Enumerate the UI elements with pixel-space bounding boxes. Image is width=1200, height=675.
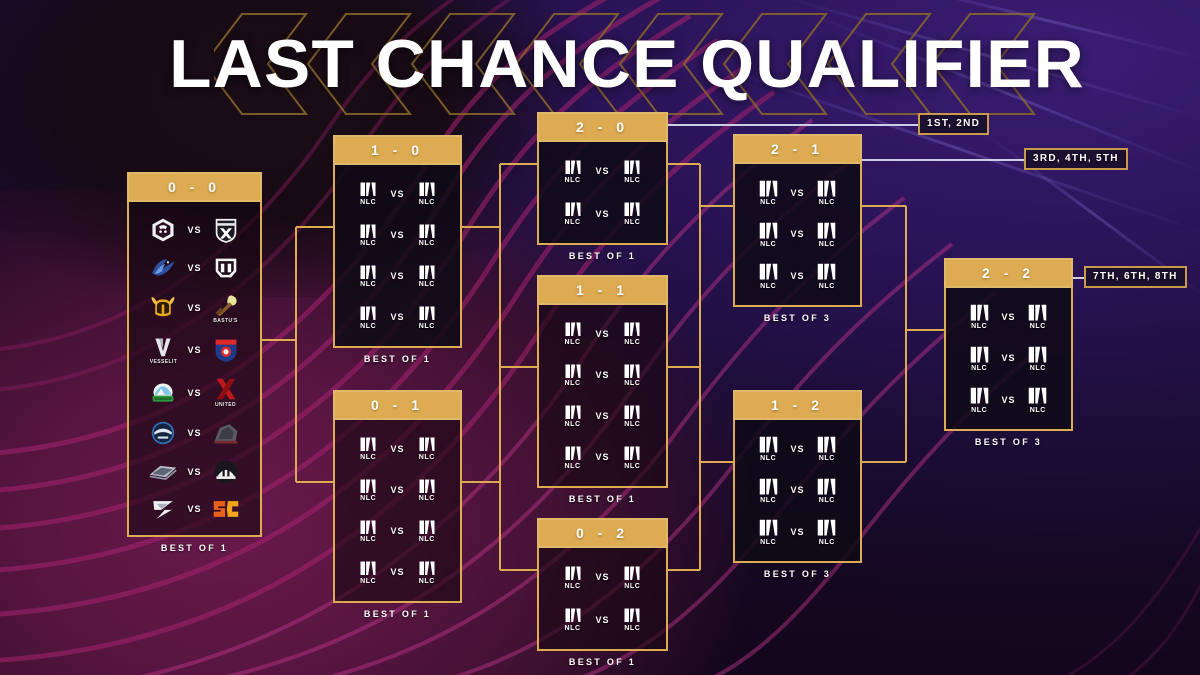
vs-label: VS [1001, 353, 1015, 363]
nlc-logo: NLC [564, 321, 582, 346]
match-slot-left [141, 217, 186, 243]
nlc-mark-icon [816, 518, 837, 537]
match-slot-right: NLC [406, 305, 448, 330]
match-slot-right: NLC [611, 363, 654, 388]
node-record-round-1-0: 1 - 0 [333, 135, 462, 165]
nlc-logo: NLC [1027, 386, 1048, 413]
nlc-logo: NLC [623, 363, 641, 388]
nlc-mark-icon [564, 363, 582, 380]
match-row[interactable]: VS [135, 216, 254, 244]
match-row[interactable]: NLCVSNLC [952, 303, 1065, 330]
nlc-label: NLC [360, 323, 376, 330]
nlc-logo: NLC [359, 436, 377, 461]
nlc-mark-icon [623, 404, 641, 421]
vs-label: VS [1001, 395, 1015, 405]
match-slot-right: NLC [406, 223, 448, 248]
match-row[interactable]: VESSELITVS [135, 336, 254, 365]
nlc-mark-icon [359, 560, 377, 577]
nlc-label: NLC [624, 421, 640, 428]
match-slot-right: NLC [1017, 303, 1059, 330]
nlc-label: NLC [819, 539, 835, 546]
placement-tag-first-second: 1ST, 2ND [918, 113, 989, 135]
node-record-round-2-1: 2 - 1 [733, 134, 862, 164]
nlc-label: NLC [1030, 365, 1046, 372]
match-slot-left: NLC [347, 223, 389, 248]
nlc-label: NLC [565, 177, 581, 184]
match-slot-right: NLC [611, 159, 654, 184]
vs-label: VS [187, 504, 201, 514]
nlc-logo: NLC [623, 445, 641, 470]
nlc-logo: NLC [1027, 345, 1048, 372]
nlc-label: NLC [624, 177, 640, 184]
nlc-mark-icon [418, 223, 436, 240]
nlc-label: NLC [819, 455, 835, 462]
match-slot-right: NLC [806, 262, 848, 289]
match-slot-right: UNITED [203, 377, 248, 408]
nlc-logo: NLC [758, 477, 779, 504]
nlc-logo: NLC [816, 435, 837, 462]
nlc-label: NLC [624, 219, 640, 226]
match-row[interactable]: VS [135, 497, 254, 521]
nlc-mark-icon [816, 262, 837, 281]
match-row[interactable]: NLCVSNLC [341, 519, 454, 544]
nlc-logo: NLC [564, 445, 582, 470]
match-row[interactable]: NLCVSNLC [741, 221, 854, 248]
match-slot-left: NLC [347, 478, 389, 503]
nlc-mark-icon [969, 303, 990, 322]
sic-logo [212, 498, 240, 520]
match-slot-right [203, 337, 248, 363]
nlc-label: NLC [624, 463, 640, 470]
nlc-logo: NLC [816, 179, 837, 206]
vs-label: VS [390, 271, 404, 281]
nlc-label: NLC [760, 283, 776, 290]
nlc-label: NLC [1030, 407, 1046, 414]
nlc-label: NLC [971, 323, 987, 330]
match-slot-right [203, 256, 248, 280]
xshield-logo [214, 216, 238, 244]
nlc-label: NLC [419, 578, 435, 585]
nlc-mark-icon [623, 321, 641, 338]
match-row[interactable]: NLCVSNLC [952, 386, 1065, 413]
nlc-mark-icon [816, 179, 837, 198]
match-row[interactable]: NLCVSNLC [341, 478, 454, 503]
match-row[interactable]: NLCVSNLC [545, 607, 660, 632]
match-slot-right: NLC [406, 478, 448, 503]
nlc-mark-icon [623, 607, 641, 624]
nlc-logo: NLC [418, 560, 436, 585]
nlc-logo: NLC [969, 386, 990, 413]
match-row[interactable]: NLCVSNLC [545, 404, 660, 429]
nlc-mark-icon [359, 436, 377, 453]
g2-logo [150, 217, 176, 243]
nlc-mark-icon [758, 179, 779, 198]
nlc-label: NLC [565, 583, 581, 590]
bracket-node-round-1-2: 1 - 2NLCVSNLCNLCVSNLCNLCVSNLCBEST OF 3 [733, 390, 862, 579]
nlc-logo: NLC [564, 404, 582, 429]
nlc-mark-icon [564, 404, 582, 421]
nlc-label: NLC [565, 339, 581, 346]
nlc-mark-icon [758, 518, 779, 537]
nlc-mark-icon [623, 445, 641, 462]
nlc-label: NLC [760, 241, 776, 248]
vs-label: VS [595, 209, 609, 219]
nlc-mark-icon [1027, 345, 1048, 364]
nlc-label: NLC [419, 536, 435, 543]
nlc-label: NLC [624, 339, 640, 346]
bracket-node-round-0-1: 0 - 1NLCVSNLCNLCVSNLCNLCVSNLCNLCVSNLCBES… [333, 390, 462, 619]
match-slot-right: BASTU'S [203, 293, 248, 324]
team-caption: UNITED [215, 402, 236, 408]
vs-label: VS [187, 467, 201, 477]
vs-label: VS [790, 444, 804, 454]
match-row[interactable]: VS [135, 256, 254, 280]
bracket-node-round-2-1: 2 - 1NLCVSNLCNLCVSNLCNLCVSNLCBEST OF 3 [733, 134, 862, 323]
nlc-label: NLC [419, 323, 435, 330]
vs-label: VS [595, 411, 609, 421]
node-format-round-0-1: BEST OF 1 [333, 609, 462, 619]
nlc-logo: NLC [359, 560, 377, 585]
match-slot-left: NLC [551, 321, 594, 346]
mountain-logo [150, 380, 176, 406]
node-format-round-1-1: BEST OF 1 [537, 494, 668, 504]
nlc-logo: NLC [564, 363, 582, 388]
node-format-round-2-2: BEST OF 3 [944, 437, 1073, 447]
nlc-label: NLC [760, 199, 776, 206]
nlc-label: NLC [419, 281, 435, 288]
bracket-node-round-2-0: 2 - 0NLCVSNLCNLCVSNLCBEST OF 1 [537, 112, 668, 261]
nlc-label: NLC [565, 219, 581, 226]
nlc-label: NLC [624, 583, 640, 590]
nlc-logo: NLC [564, 607, 582, 632]
vs-label: VS [390, 485, 404, 495]
nlc-logo: NLC [758, 435, 779, 462]
match-row[interactable]: NLCVSNLC [341, 436, 454, 461]
bracket-node-round-1-1: 1 - 1NLCVSNLCNLCVSNLCNLCVSNLCNLCVSNLCBES… [537, 275, 668, 504]
match-slot-left: NLC [958, 345, 1000, 372]
match-row[interactable]: NLCVSNLC [545, 445, 660, 470]
match-slot-left: NLC [958, 303, 1000, 330]
vs-label: VS [187, 303, 201, 313]
nlc-mark-icon [418, 181, 436, 198]
match-slot-right: NLC [406, 560, 448, 585]
nlc-logo: NLC [1027, 303, 1048, 330]
match-row[interactable]: VSUNITED [135, 377, 254, 408]
vs-label: VS [187, 263, 201, 273]
nlc-mark-icon [564, 565, 582, 582]
nlc-logo: NLC [816, 477, 837, 504]
match-row[interactable]: NLCVSNLC [545, 321, 660, 346]
node-format-round-1-0: BEST OF 1 [333, 354, 462, 364]
nlc-label: NLC [971, 365, 987, 372]
nlc-label: NLC [1030, 323, 1046, 330]
match-slot-left: NLC [747, 179, 789, 206]
nlc-logo: NLC [359, 305, 377, 330]
nlc-logo: NLC [623, 404, 641, 429]
nlc-mark-icon [418, 264, 436, 281]
node-matches-round-2-2: NLCVSNLCNLCVSNLCNLCVSNLC [944, 288, 1073, 431]
nlc-logo: NLC [623, 565, 641, 590]
match-row[interactable]: NLCVSNLC [545, 363, 660, 388]
vesselit-logo: VESSELIT [150, 336, 177, 365]
nlc-mark-icon [1027, 303, 1048, 322]
node-format-round-1-2: BEST OF 3 [733, 569, 862, 579]
nlc-label: NLC [819, 199, 835, 206]
match-row[interactable]: NLCVSNLC [341, 223, 454, 248]
match-slot-left [141, 256, 186, 280]
nlc-mark-icon [758, 477, 779, 496]
vs-label: VS [390, 189, 404, 199]
match-row[interactable]: NLCVSNLC [741, 262, 854, 289]
page-title: LAST CHANCE QUALIFIER [224, 18, 1030, 110]
node-record-round-2-0: 2 - 0 [537, 112, 668, 142]
vs-label: VS [595, 166, 609, 176]
bracket-node-round-0-0: 0 - 0VSVSVSBASTU'SVESSELITVSVSUNITEDVSVS… [127, 172, 262, 553]
phoenix-logo [149, 256, 177, 280]
zeta-logo [149, 497, 177, 521]
nlc-label: NLC [819, 241, 835, 248]
node-matches-round-1-1: NLCVSNLCNLCVSNLCNLCVSNLCNLCVSNLC [537, 305, 668, 488]
node-matches-round-1-2: NLCVSNLCNLCVSNLCNLCVSNLC [733, 420, 862, 563]
match-slot-left [141, 497, 186, 521]
nlc-label: NLC [760, 539, 776, 546]
vs-label: VS [390, 567, 404, 577]
nlc-logo: NLC [418, 181, 436, 206]
node-matches-round-0-1: NLCVSNLCNLCVSNLCNLCVSNLCNLCVSNLC [333, 420, 462, 603]
bracket-node-round-0-2: 0 - 2NLCVSNLCNLCVSNLCBEST OF 1 [537, 518, 668, 667]
nlc-mark-icon [418, 478, 436, 495]
match-slot-right: NLC [611, 607, 654, 632]
match-row[interactable]: VS [135, 420, 254, 446]
nlc-logo: NLC [418, 305, 436, 330]
vs-label: VS [390, 526, 404, 536]
match-row[interactable]: NLCVSNLC [341, 560, 454, 585]
nlc-label: NLC [760, 455, 776, 462]
nlc-mark-icon [758, 262, 779, 281]
omega-logo [213, 256, 239, 280]
nlc-mark-icon [816, 221, 837, 240]
match-row[interactable]: NLCVSNLC [545, 565, 660, 590]
match-row[interactable]: NLCVSNLC [741, 179, 854, 206]
nlc-logo: NLC [418, 223, 436, 248]
node-record-round-0-0: 0 - 0 [127, 172, 262, 202]
match-slot-right [203, 498, 248, 520]
title-block: LAST CHANCE QUALIFIER [232, 18, 1022, 110]
match-slot-left [141, 295, 186, 321]
match-slot-left: NLC [747, 477, 789, 504]
node-record-round-1-1: 1 - 1 [537, 275, 668, 305]
nlc-label: NLC [360, 578, 376, 585]
match-slot-right: NLC [406, 436, 448, 461]
match-slot-right: NLC [611, 404, 654, 429]
nlc-mark-icon [623, 159, 641, 176]
nlc-label: NLC [360, 454, 376, 461]
nlc-label: NLC [565, 625, 581, 632]
bracket-node-round-1-0: 1 - 0NLCVSNLCNLCVSNLCNLCVSNLCNLCVSNLCBES… [333, 135, 462, 364]
node-record-round-0-1: 0 - 1 [333, 390, 462, 420]
vs-label: VS [790, 485, 804, 495]
nlc-label: NLC [360, 281, 376, 288]
nlc-logo: NLC [418, 519, 436, 544]
match-slot-right: NLC [806, 518, 848, 545]
nlc-mark-icon [418, 436, 436, 453]
vs-label: VS [595, 329, 609, 339]
placement-tag-third-fourth-fifth: 3RD, 4TH, 5TH [1024, 148, 1128, 170]
match-slot-left: NLC [347, 519, 389, 544]
nlc-logo: NLC [564, 201, 582, 226]
vs-label: VS [1001, 312, 1015, 322]
match-slot-left: NLC [347, 264, 389, 289]
match-slot-left [141, 420, 186, 446]
nlc-logo: NLC [623, 201, 641, 226]
nlc-logo: NLC [623, 321, 641, 346]
match-slot-left: NLC [347, 181, 389, 206]
match-slot-left: NLC [347, 436, 389, 461]
nlc-logo: NLC [623, 159, 641, 184]
match-slot-left: VESSELIT [141, 336, 186, 365]
nlc-logo: NLC [359, 181, 377, 206]
nlc-logo: NLC [758, 518, 779, 545]
nlc-mark-icon [359, 519, 377, 536]
nlc-mark-icon [623, 201, 641, 218]
node-record-round-0-2: 0 - 2 [537, 518, 668, 548]
nlc-logo: NLC [418, 264, 436, 289]
nlc-label: NLC [819, 497, 835, 504]
nlc-mark-icon [418, 305, 436, 322]
nlc-mark-icon [758, 435, 779, 454]
nlc-logo: NLC [758, 179, 779, 206]
nlc-label: NLC [624, 625, 640, 632]
match-slot-right: NLC [406, 519, 448, 544]
node-matches-round-0-2: NLCVSNLCNLCVSNLC [537, 548, 668, 651]
vs-label: VS [790, 229, 804, 239]
match-slot-left: NLC [551, 607, 594, 632]
nlc-label: NLC [565, 463, 581, 470]
match-slot-left [141, 380, 186, 406]
nlc-logo: NLC [359, 519, 377, 544]
match-slot-right [203, 216, 248, 244]
match-slot-right: NLC [806, 477, 848, 504]
match-slot-right: NLC [611, 201, 654, 226]
match-slot-right: NLC [806, 221, 848, 248]
nlc-mark-icon [623, 363, 641, 380]
node-format-round-0-0: BEST OF 1 [127, 543, 262, 553]
nlc-logo: NLC [816, 262, 837, 289]
match-row[interactable]: NLCVSNLC [341, 305, 454, 330]
viking-logo [150, 295, 176, 321]
match-row[interactable]: NLCVSNLC [545, 159, 660, 184]
nlc-label: NLC [360, 536, 376, 543]
match-row[interactable]: VSBASTU'S [135, 293, 254, 324]
match-slot-right: NLC [806, 179, 848, 206]
match-slot-left: NLC [347, 560, 389, 585]
match-row[interactable]: NLCVSNLC [341, 181, 454, 206]
nlc-logo: NLC [758, 262, 779, 289]
match-slot-left: NLC [551, 363, 594, 388]
vs-label: VS [595, 572, 609, 582]
blade-logo [148, 462, 178, 482]
nlc-label: NLC [624, 380, 640, 387]
placement-tag-seventh-sixth-eighth: 7TH, 6TH, 8TH [1084, 266, 1187, 288]
nlc-mark-icon [564, 321, 582, 338]
match-row[interactable]: NLCVSNLC [741, 435, 854, 462]
match-slot-left: NLC [551, 445, 594, 470]
nlc-label: NLC [760, 497, 776, 504]
bracket-node-round-2-2: 2 - 2NLCVSNLCNLCVSNLCNLCVSNLCBEST OF 3 [944, 258, 1073, 447]
match-row[interactable]: NLCVSNLC [741, 477, 854, 504]
node-matches-round-0-0: VSVSVSBASTU'SVESSELITVSVSUNITEDVSVSVS [127, 202, 262, 537]
nlc-label: NLC [565, 421, 581, 428]
vs-label: VS [595, 370, 609, 380]
vs-label: VS [187, 225, 201, 235]
nlc-logo: NLC [816, 518, 837, 545]
match-row[interactable]: NLCVSNLC [341, 264, 454, 289]
match-slot-left: NLC [551, 565, 594, 590]
nlc-label: NLC [419, 495, 435, 502]
nlc-logo: NLC [623, 607, 641, 632]
match-slot-right: NLC [806, 435, 848, 462]
match-row[interactable]: NLCVSNLC [952, 345, 1065, 372]
match-slot-left: NLC [551, 201, 594, 226]
node-format-round-2-0: BEST OF 1 [537, 251, 668, 261]
nlc-logo: NLC [359, 264, 377, 289]
match-row[interactable]: NLCVSNLC [741, 518, 854, 545]
vs-label: VS [790, 527, 804, 537]
nlc-label: NLC [971, 407, 987, 414]
nlc-mark-icon [359, 264, 377, 281]
nlc-mark-icon [359, 181, 377, 198]
match-slot-right: NLC [1017, 386, 1059, 413]
rock-logo [212, 421, 240, 445]
nlc-mark-icon [969, 345, 990, 364]
match-slot-left: NLC [347, 305, 389, 330]
nlc-label: NLC [360, 199, 376, 206]
vs-label: VS [390, 444, 404, 454]
match-slot-left: NLC [747, 435, 789, 462]
match-slot-right: NLC [1017, 345, 1059, 372]
vs-label: VS [390, 312, 404, 322]
match-row[interactable]: VS [135, 459, 254, 485]
nlc-label: NLC [419, 199, 435, 206]
nlc-mark-icon [758, 221, 779, 240]
nlc-mark-icon [623, 565, 641, 582]
nlc-mark-icon [816, 435, 837, 454]
circle-logo [150, 420, 176, 446]
match-slot-left: NLC [551, 404, 594, 429]
match-slot-left: NLC [747, 518, 789, 545]
node-format-round-0-2: BEST OF 1 [537, 657, 668, 667]
node-record-round-2-2: 2 - 2 [944, 258, 1073, 288]
vs-label: VS [187, 428, 201, 438]
match-row[interactable]: NLCVSNLC [545, 201, 660, 226]
match-slot-right: NLC [611, 321, 654, 346]
vs-label: VS [790, 271, 804, 281]
match-slot-right: NLC [611, 565, 654, 590]
nlc-mark-icon [564, 159, 582, 176]
crest-logo [213, 337, 239, 363]
team-caption: BASTU'S [213, 318, 238, 324]
nlc-label: NLC [565, 380, 581, 387]
vs-label: VS [790, 188, 804, 198]
nlc-label: NLC [419, 454, 435, 461]
nlc-label: NLC [419, 240, 435, 247]
nlc-label: NLC [819, 283, 835, 290]
nlc-logo: NLC [564, 565, 582, 590]
match-slot-left: NLC [551, 159, 594, 184]
nlc-mark-icon [564, 445, 582, 462]
nlc-logo: NLC [969, 303, 990, 330]
nlc-logo: NLC [564, 159, 582, 184]
